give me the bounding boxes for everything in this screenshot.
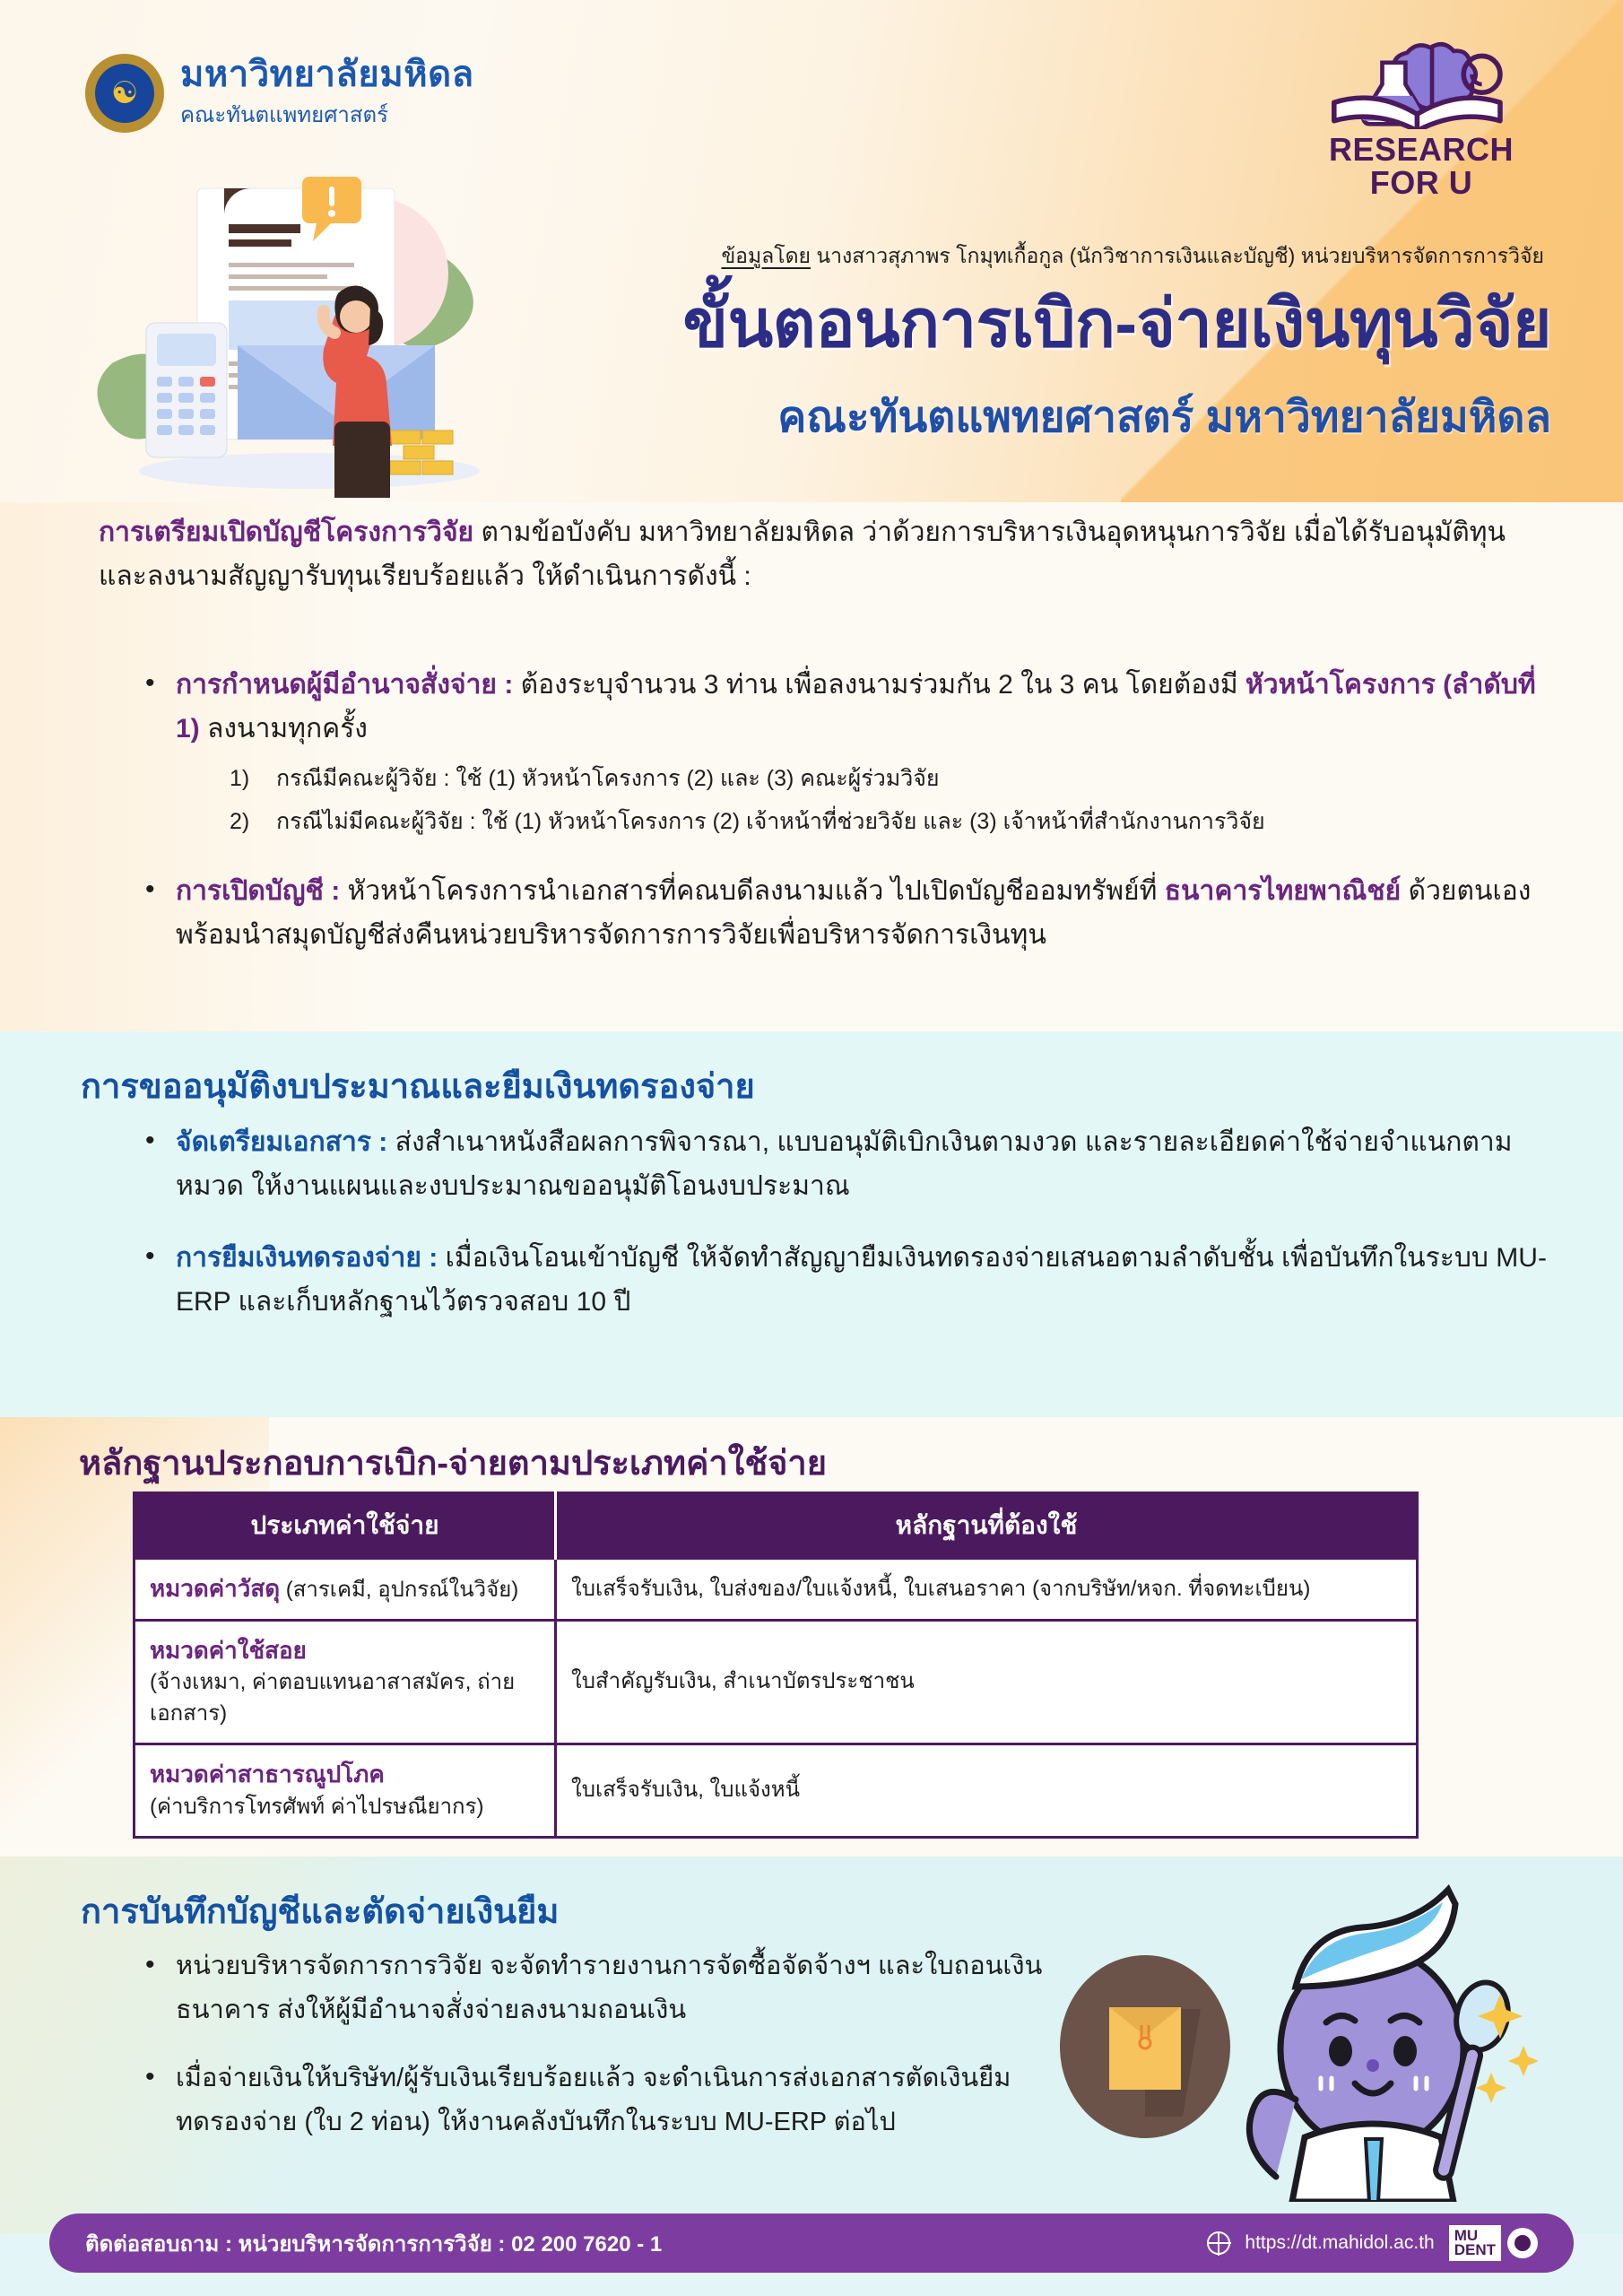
section2-heading: การขออนุมัติงบประมาณและยืมเงินทดรองจ่าย <box>81 1058 755 1113</box>
list-item: 1)กรณีมีคณะผู้วิจัย : ใช้ (1) หัวหน้าโคร… <box>230 758 1560 801</box>
globe-icon <box>1207 2231 1230 2255</box>
mahidol-logo: ☯ มหาวิทยาลัยมหิดล คณะทันตแพทยศาสตร์ <box>85 54 474 133</box>
list-item: การยืมเงินทดรองจ่าย : เมื่อเงินโอนเข้าบั… <box>135 1237 1560 1324</box>
footer-url[interactable]: https://dt.mahidol.ac.th <box>1245 2232 1434 2254</box>
bullet-text-a: ต้องระบุจำนวน 3 ท่าน เพื่อลงนามร่วมกัน 2… <box>513 670 1245 700</box>
bullet-text-a: หัวหน้าโครงการนำเอกสารที่คณบดีลงนามแล้ว … <box>340 876 1165 906</box>
byline-prefix: ข้อมูลโดย <box>721 244 811 267</box>
sub-item-number: 2) <box>230 801 249 844</box>
section-budget-advance: จัดเตรียมเอกสาร : ส่งสำเนาหนังสือผลการพิ… <box>135 1121 1560 1333</box>
research-for-u-badge: RESEARCH FOR U <box>1300 38 1542 199</box>
section4-heading: การบันทึกบัญชีและตัดจ่ายเงินยืม <box>81 1883 559 1938</box>
list-item: จัดเตรียมเอกสาร : ส่งสำเนาหนังสือผลการพิ… <box>135 1121 1560 1208</box>
list-item: 2)กรณีไม่มีคณะผู้วิจัย : ใช้ (1) หัวหน้า… <box>230 801 1560 844</box>
envelope-circle-icon <box>1054 1955 1237 2139</box>
cell-evidence: ใบเสร็จรับเงิน, ใบแจ้งหนี้ <box>556 1744 1418 1837</box>
cell-category: หมวดค่าวัสดุ (สารเคมี, อุปกรณ์ในวิจัย) <box>135 1559 556 1621</box>
category-sub: (ค่าบริการโทรศัพท์ ค่าไปรษณียากร) <box>150 1792 540 1823</box>
list-item: เมื่อจ่ายเงินให้บริษัท/ผู้รับเงินเรียบร้… <box>135 2057 1058 2144</box>
university-name: มหาวิทยาลัยมหิดล <box>180 56 474 93</box>
mudent-mark-icon <box>1507 2228 1538 2258</box>
bullet-text-b: ลงนามทุกครั้ง <box>200 714 368 744</box>
intro-lead: การเตรียมเปิดบัญชีโครงการวิจัย <box>99 517 473 547</box>
list-item: การเปิดบัญชี : หัวหน้าโครงการนำเอกสารที่… <box>135 870 1560 957</box>
column-header-category: ประเภทค่าใช้จ่าย <box>135 1493 556 1559</box>
page-title: ขั้นตอนการเบิก-จ่ายเงินทุนวิจัย <box>683 289 1552 359</box>
page-subtitle: คณะทันตแพทยศาสตร์ มหาวิทยาลัยมหิดล <box>777 395 1551 441</box>
category-main: หมวดค่าสาธารณูปโภค <box>150 1758 540 1792</box>
list-item: การกำหนดผู้มีอำนาจสั่งจ่าย : ต้องระบุจำน… <box>135 664 1560 843</box>
intro-paragraph: การเตรียมเปิดบัญชีโครงการวิจัย ตามข้อบัง… <box>99 511 1551 598</box>
bullet-emphasis: ธนาคารไทยพาณิชย์ <box>1165 876 1402 906</box>
category-sub: (สารเคมี, อุปกรณ์ในวิจัย) <box>280 1578 518 1602</box>
footer-contact: ติดต่อสอบถาม : หน่วยบริหารจัดการการวิจัย… <box>85 2226 662 2261</box>
mahidol-seal-icon: ☯ <box>85 54 164 133</box>
column-header-evidence: หลักฐานที่ต้องใช้ <box>556 1493 1418 1559</box>
sub-item-number: 1) <box>230 758 249 801</box>
seal-inner: ☯ <box>95 64 154 123</box>
category-main: หมวดค่าใช้สอย <box>150 1634 540 1668</box>
section-accounting: หน่วยบริหารจัดการการวิจัย จะจัดทำรายงานก… <box>135 1944 1058 2153</box>
sub-item-text: กรณีมีคณะผู้วิจัย : ใช้ (1) หัวหน้าโครงก… <box>276 766 940 791</box>
bullet-lead: การเปิดบัญชี : <box>176 876 340 906</box>
bullet-lead: จัดเตรียมเอกสาร : <box>176 1127 387 1157</box>
section-open-account: การกำหนดผู้มีอำนาจสั่งจ่าย : ต้องระบุจำน… <box>135 664 1560 966</box>
section3-heading: หลักฐานประกอบการเบิก-จ่ายตามประเภทค่าใช้… <box>79 1435 827 1490</box>
cell-evidence: ใบสำคัญรับเงิน, สำเนาบัตรประชาชน <box>556 1620 1418 1744</box>
table-header-row: ประเภทค่าใช้จ่าย หลักฐานที่ต้องใช้ <box>135 1493 1418 1559</box>
category-main: หมวดค่าวัสดุ <box>150 1575 280 1602</box>
category-sub: (จ้างเหมา, ค่าตอบแทนอาสาสมัคร, ถ่ายเอกสา… <box>150 1667 540 1730</box>
bullet-lead: การกำหนดผู้มีอำนาจสั่งจ่าย : <box>176 670 513 700</box>
research-badge-line2: FOR U <box>1300 167 1542 200</box>
table-row: หมวดค่าสาธารณูปโภค (ค่าบริการโทรศัพท์ ค่… <box>135 1744 1418 1837</box>
mudent-line2: DENT <box>1454 2241 1496 2258</box>
research-badge-line1: RESEARCH <box>1300 134 1542 167</box>
table-row: หมวดค่าวัสดุ (สารเคมี, อุปกรณ์ในวิจัย) ใ… <box>135 1559 1418 1621</box>
cell-category: หมวดค่าสาธารณูปโภค (ค่าบริการโทรศัพท์ ค่… <box>135 1744 556 1837</box>
cell-category: หมวดค่าใช้สอย (จ้างเหมา, ค่าตอบแทนอาสาสม… <box>135 1620 556 1744</box>
table-row: หมวดค่าใช้สอย (จ้างเหมา, ค่าตอบแทนอาสาสม… <box>135 1620 1418 1744</box>
cell-evidence: ใบเสร็จรับเงิน, ใบส่งของ/ใบแจ้งหนี้, ใบเ… <box>556 1559 1418 1621</box>
poster-page: ☯ มหาวิทยาลัยมหิดล คณะทันตแพทยศาสตร์ RES… <box>0 0 1623 2296</box>
list-item: หน่วยบริหารจัดการการวิจัย จะจัดทำรายงานก… <box>135 1944 1058 2031</box>
byline: ข้อมูลโดย นางสาวสุภาพร โกมุทเกื้อกูล (นั… <box>721 240 1544 273</box>
mudent-wordmark: MU DENT <box>1449 2225 1501 2261</box>
brain-flask-book-icon <box>1309 38 1533 129</box>
bullet-lead: การยืมเงินทดรองจ่าย : <box>176 1243 438 1273</box>
footer-links: https://dt.mahidol.ac.th MU DENT <box>1207 2225 1538 2261</box>
sub-list: 1)กรณีมีคณะผู้วิจัย : ใช้ (1) หัวหน้าโคร… <box>230 758 1560 843</box>
byline-rest: นางสาวสุภาพร โกมุทเกื้อกูล (นักวิชาการเง… <box>811 244 1544 267</box>
document-envelope-calculator-person-icon <box>94 157 516 498</box>
evidence-table: ประเภทค่าใช้จ่าย หลักฐานที่ต้องใช้ หมวดค… <box>133 1492 1419 1839</box>
mudent-logo: MU DENT <box>1449 2225 1538 2261</box>
sub-item-text: กรณีไม่มีคณะผู้วิจัย : ใช้ (1) หัวหน้าโค… <box>276 809 1265 834</box>
dentist-tooth-mascot-icon <box>1215 1879 1538 2202</box>
faculty-name: คณะทันตแพทยศาสตร์ <box>180 97 474 132</box>
footer-bar: ติดต่อสอบถาม : หน่วยบริหารจัดการการวิจัย… <box>49 2213 1574 2273</box>
